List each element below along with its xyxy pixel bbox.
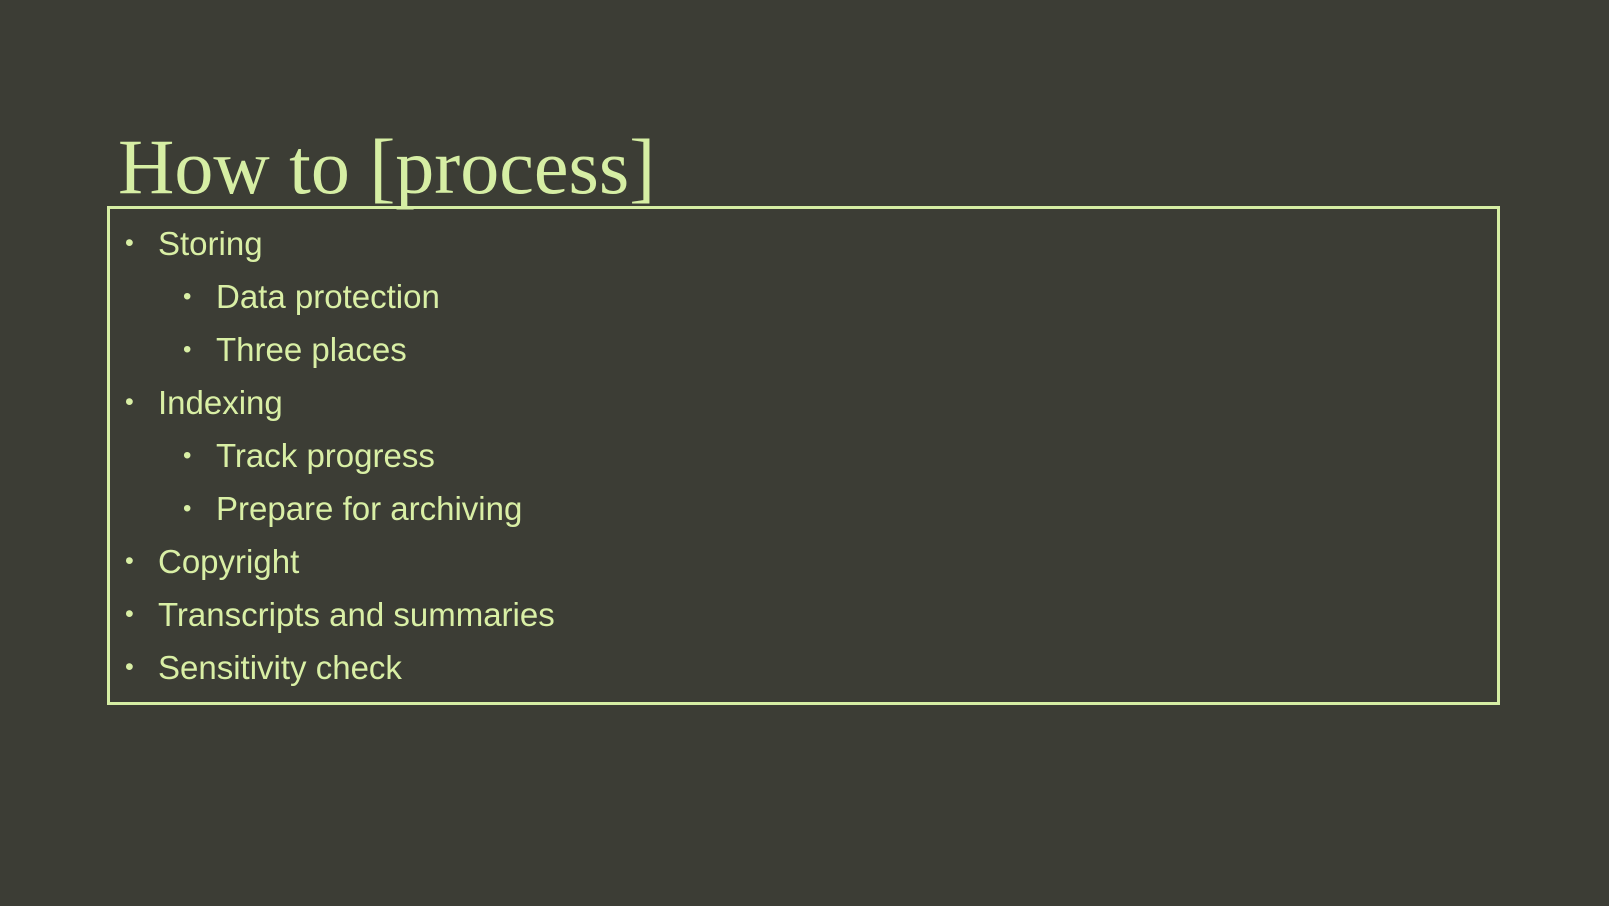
bullet-point-icon: • [183,323,191,376]
bullet-point-icon: • [125,376,134,429]
list-item[interactable]: •Copyright [116,535,1496,588]
content-placeholder-box[interactable]: •Storing•Data protection•Three places•In… [107,206,1500,705]
bullet-point-icon: • [125,641,134,694]
list-item[interactable]: •Storing [116,217,1496,270]
list-item-label: Storing [158,217,263,270]
list-item[interactable]: •Data protection [116,270,1496,323]
list-item-label: Track progress [216,429,435,482]
list-item-label: Three places [216,323,407,376]
bullet-point-icon: • [125,217,134,270]
bullet-point-icon: • [125,535,134,588]
list-item-label: Copyright [158,535,299,588]
list-item-label: Data protection [216,270,440,323]
bullet-point-icon: • [183,482,191,535]
list-item-label: Indexing [158,376,283,429]
bullet-point-icon: • [183,270,191,323]
list-item[interactable]: •Prepare for archiving [116,482,1496,535]
list-item[interactable]: •Transcripts and summaries [116,588,1496,641]
slide-canvas: How to [process] •Storing•Data protectio… [0,0,1609,906]
list-item[interactable]: •Indexing [116,376,1496,429]
bullet-list: •Storing•Data protection•Three places•In… [116,217,1496,694]
list-item-label: Prepare for archiving [216,482,522,535]
list-item-label: Sensitivity check [158,641,402,694]
list-item[interactable]: •Track progress [116,429,1496,482]
bullet-point-icon: • [125,588,134,641]
list-item-label: Transcripts and summaries [158,588,555,641]
bullet-point-icon: • [183,429,191,482]
list-item[interactable]: •Three places [116,323,1496,376]
page-title: How to [process] [118,128,1498,206]
list-item[interactable]: •Sensitivity check [116,641,1496,694]
